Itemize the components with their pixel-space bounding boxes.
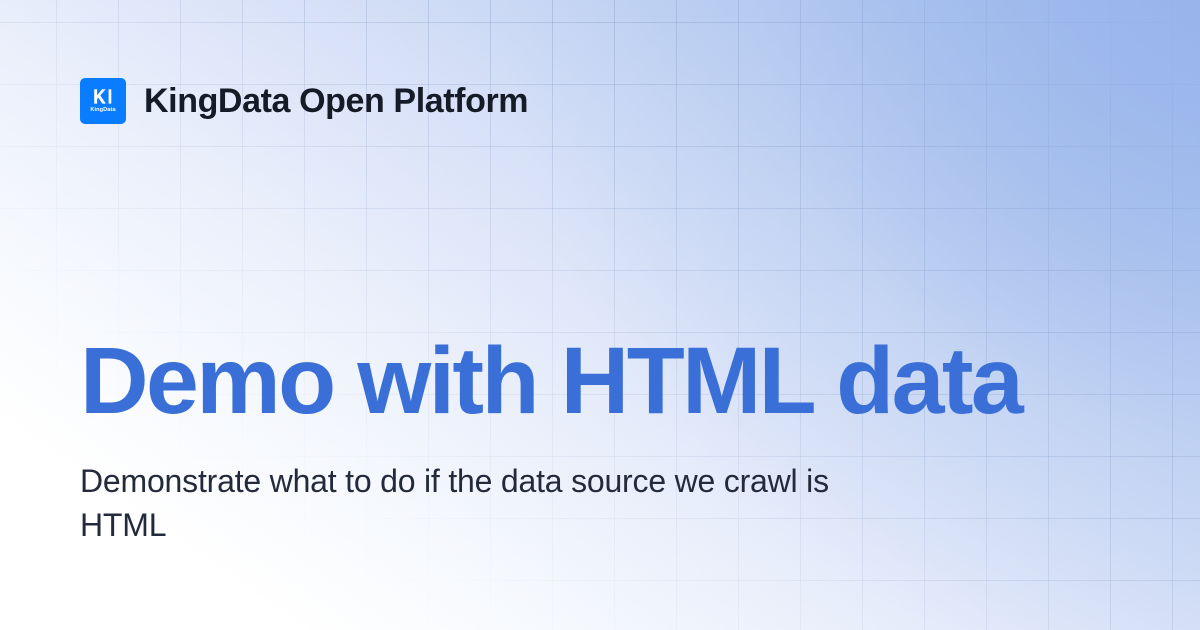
page-title: Demo with HTML data (80, 330, 1120, 433)
card-content: KingData KingData Open Platform Demo wit… (0, 0, 1200, 630)
logo-wordmark: KingData (90, 108, 115, 114)
og-card: KingData KingData Open Platform Demo wit… (0, 0, 1200, 630)
kingdata-logo-icon: KingData (80, 78, 126, 124)
page-subtitle: Demonstrate what to do if the data sourc… (80, 459, 880, 547)
logo-k-mark (92, 88, 114, 106)
brand-lockup: KingData KingData Open Platform (80, 78, 528, 124)
brand-title: KingData Open Platform (144, 84, 528, 118)
hero-block: Demo with HTML data Demonstrate what to … (80, 330, 1120, 547)
